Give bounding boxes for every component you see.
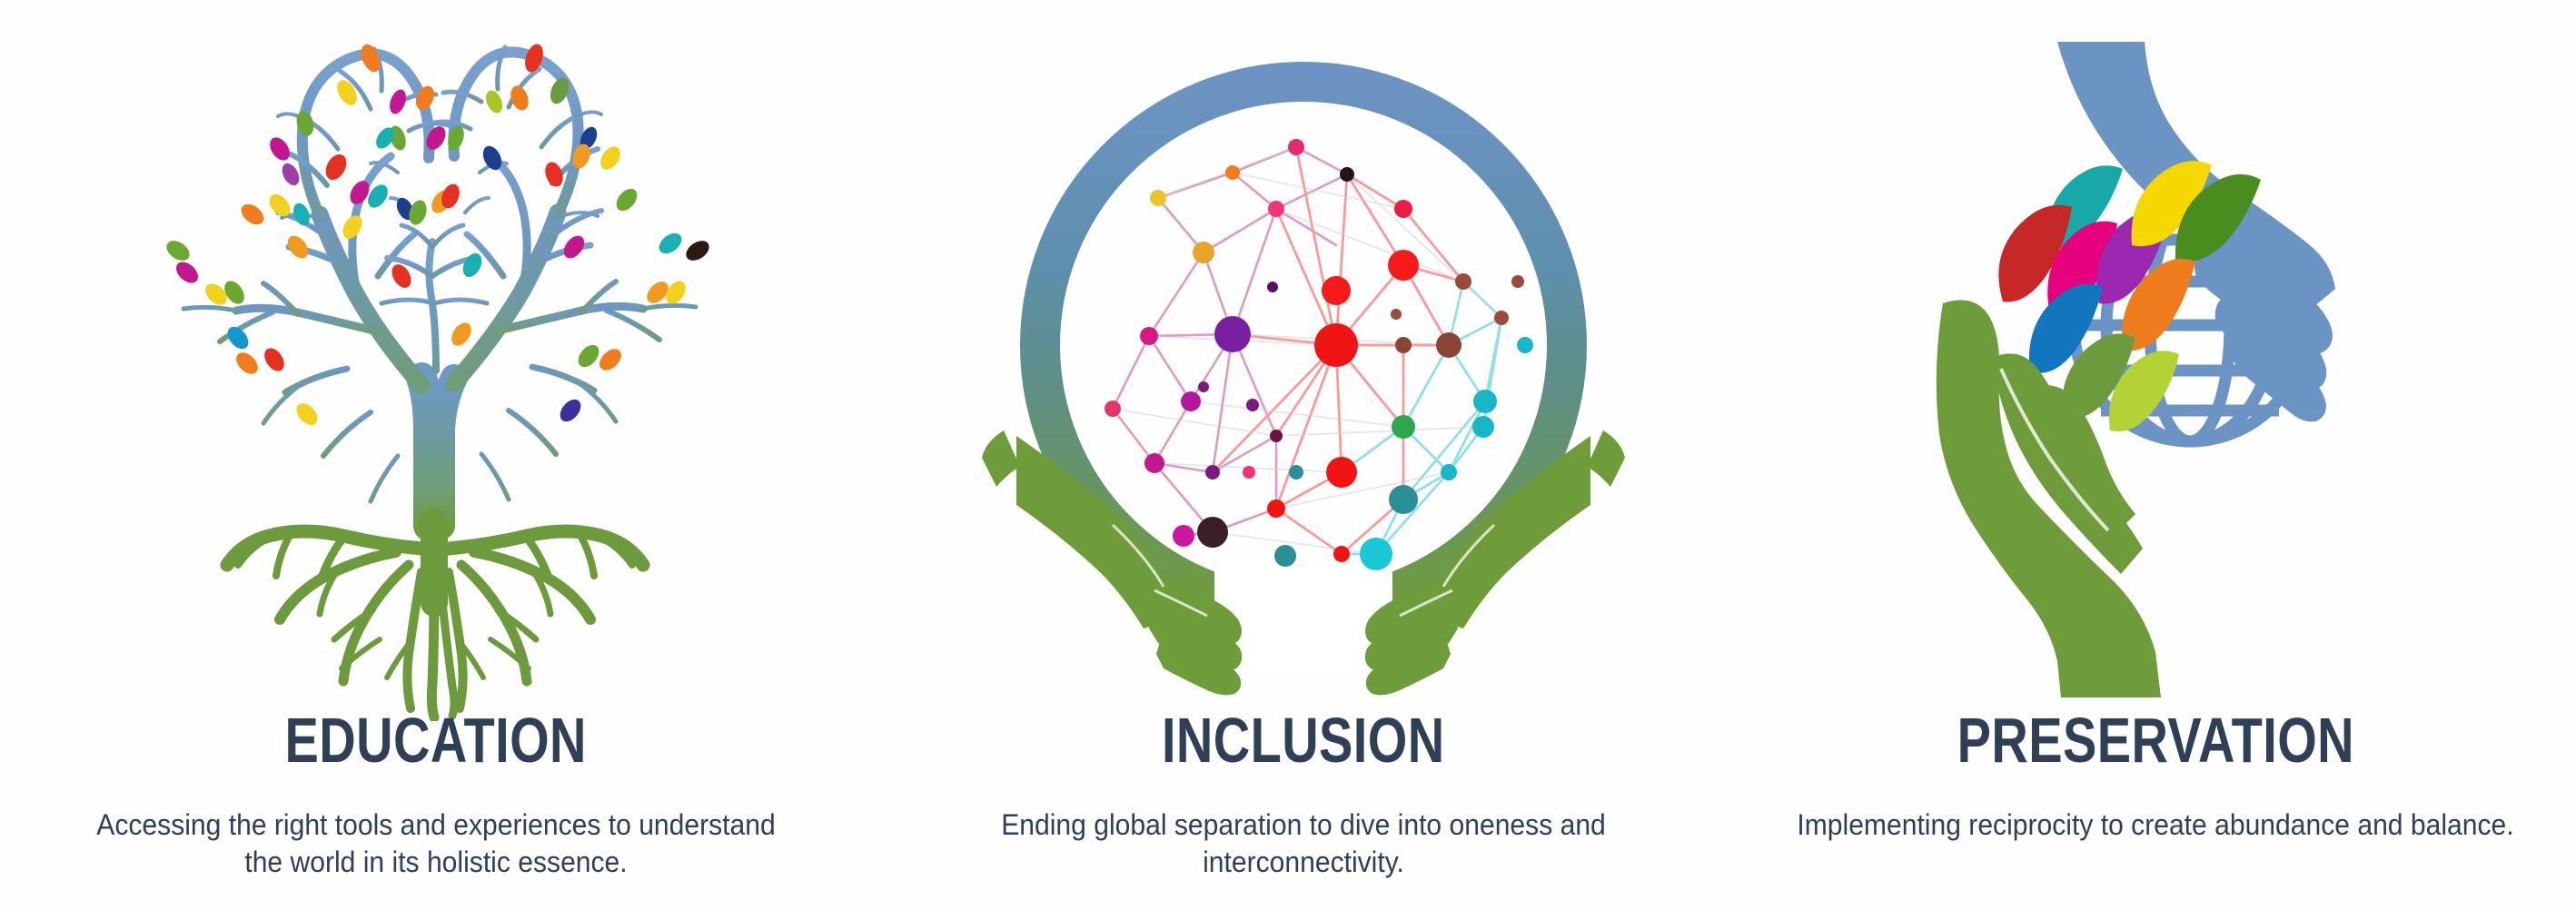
preservation-description: Implementing reciprocity to create abund… (1760, 806, 2551, 844)
value-card-inclusion[interactable]: INCLUSION Ending global separation to di… (872, 0, 1735, 910)
values-board: EDUCATION Accessing the right tools and … (0, 0, 2576, 910)
inclusion-description: Ending global separation to dive into on… (898, 806, 1709, 881)
value-card-education[interactable]: EDUCATION Accessing the right tools and … (0, 0, 872, 910)
network-globe-in-hands-icon (976, 45, 1630, 717)
page-title-preservation: PRESERVATION (1957, 710, 2353, 770)
values-columns: EDUCATION Accessing the right tools and … (0, 0, 2576, 910)
page-title-inclusion: INCLUSION (1162, 710, 1445, 770)
education-description: Accessing the right tools and experience… (26, 806, 846, 881)
value-card-preservation[interactable]: PRESERVATION Implementing reciprocity to… (1735, 0, 2576, 910)
heart-tree-with-roots-icon (109, 4, 763, 721)
hands-holding-leafy-globe-icon (1856, 25, 2455, 697)
page-title-education: EDUCATION (285, 710, 587, 770)
education-title-wrap: EDUCATION (0, 710, 872, 770)
inclusion-title-wrap: INCLUSION (872, 710, 1735, 770)
preservation-title-wrap: PRESERVATION (1735, 710, 2576, 770)
inclusion-artwork (872, 0, 1735, 717)
preservation-artwork (1735, 0, 2576, 717)
education-artwork (0, 0, 872, 717)
